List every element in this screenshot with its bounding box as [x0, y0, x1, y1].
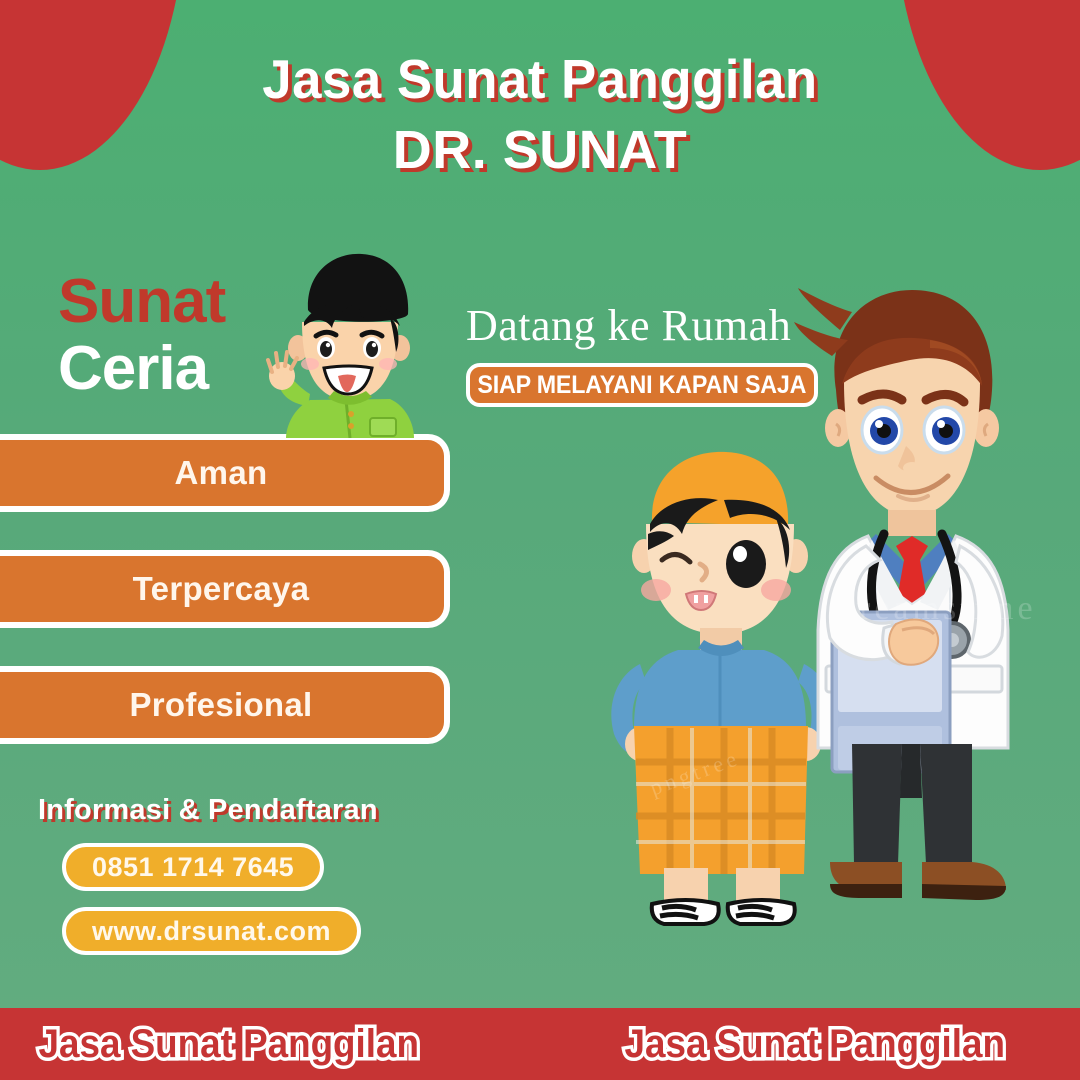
sunat-ceria-title: Sunat Ceria	[58, 272, 225, 400]
right-headline-block: Datang ke Rumah SIAP MELAYANI KAPAN SAJA	[466, 300, 818, 407]
title-word-sunat: Sunat	[58, 272, 225, 333]
doctor-clipboard-icon	[780, 278, 1040, 926]
website-url: www.drsunat.com	[92, 916, 331, 947]
poster-canvas: Jasa Sunat Panggilan DR. SUNAT Sunat Cer…	[0, 0, 1080, 1080]
feature-pill-terpercaya[interactable]: Terpercaya	[0, 550, 450, 628]
footer-band: Jasa Sunat Panggilan Jasa Sunat Panggila…	[0, 1008, 1080, 1080]
feature-list: Aman Terpercaya Profesional	[0, 434, 450, 782]
website-pill[interactable]: www.drsunat.com	[62, 907, 361, 955]
phone-pill[interactable]: 0851 1714 7645	[62, 843, 324, 891]
phone-number: 0851 1714 7645	[92, 852, 294, 883]
title-word-ceria: Ceria	[58, 339, 225, 400]
footer-text-right: Jasa Sunat Panggilan	[625, 1022, 1005, 1067]
header-line-1: Jasa Sunat Panggilan	[22, 52, 1059, 107]
feature-label: Terpercaya	[105, 570, 310, 608]
contact-heading: Informasi & Pendaftaran	[36, 794, 378, 827]
siap-melayani-label: SIAP MELAYANI KAPAN SAJA	[478, 371, 807, 400]
header: Jasa Sunat Panggilan DR. SUNAT	[0, 52, 1080, 177]
header-line-2: DR. SUNAT	[0, 123, 1080, 177]
feature-pill-aman[interactable]: Aman	[0, 434, 450, 512]
siap-melayani-badge[interactable]: SIAP MELAYANI KAPAN SAJA	[466, 363, 818, 407]
feature-label: Profesional	[101, 686, 312, 724]
feature-label: Aman	[147, 454, 268, 492]
contact-block: Informasi & Pendaftaran 0851 1714 7645 w…	[36, 794, 378, 971]
boy-songkok-waving-icon	[258, 248, 438, 438]
footer-text-left: Jasa Sunat Panggilan	[39, 1022, 419, 1067]
feature-pill-profesional[interactable]: Profesional	[0, 666, 450, 744]
datang-ke-rumah-text: Datang ke Rumah	[466, 300, 818, 351]
